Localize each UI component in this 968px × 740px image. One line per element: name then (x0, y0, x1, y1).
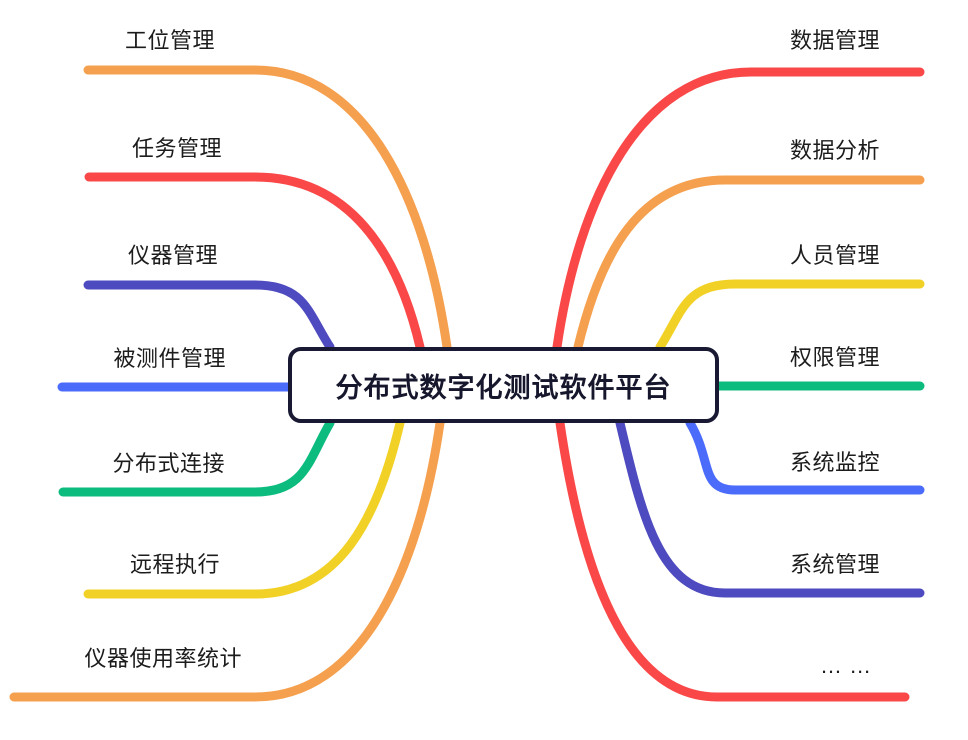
branch-label-right-5[interactable]: 系统监控 (790, 452, 880, 474)
branch-label-right-1[interactable]: 数据管理 (790, 30, 880, 52)
branch-line-left-3 (88, 285, 330, 347)
branch-label-left-2[interactable]: 任务管理 (132, 138, 222, 160)
branch-label-right-3[interactable]: 人员管理 (790, 245, 880, 267)
branch-label-left-5[interactable]: 分布式连接 (112, 453, 225, 475)
branch-line-right-3 (660, 284, 920, 347)
branch-label-left-7[interactable]: 仪器使用率统计 (84, 648, 242, 670)
branch-label-left-6[interactable]: 远程执行 (130, 554, 220, 576)
central-node[interactable]: 分布式数字化测试软件平台 (288, 347, 719, 423)
branch-label-left-4[interactable]: 被测件管理 (113, 348, 226, 370)
branch-label-right-7[interactable]: … … (820, 655, 872, 677)
branch-label-right-6[interactable]: 系统管理 (790, 554, 880, 576)
branch-label-right-2[interactable]: 数据分析 (790, 140, 880, 162)
mindmap-canvas: 分布式数字化测试软件平台 工位管理任务管理仪器管理被测件管理分布式连接远程执行仪… (0, 0, 968, 740)
branch-line-left-1 (88, 70, 447, 347)
branch-label-right-4[interactable]: 权限管理 (790, 347, 880, 369)
branch-label-left-3[interactable]: 仪器管理 (128, 245, 218, 267)
central-node-title: 分布式数字化测试软件平台 (336, 366, 672, 405)
branch-line-right-1 (557, 72, 920, 347)
branch-label-left-1[interactable]: 工位管理 (125, 30, 215, 52)
